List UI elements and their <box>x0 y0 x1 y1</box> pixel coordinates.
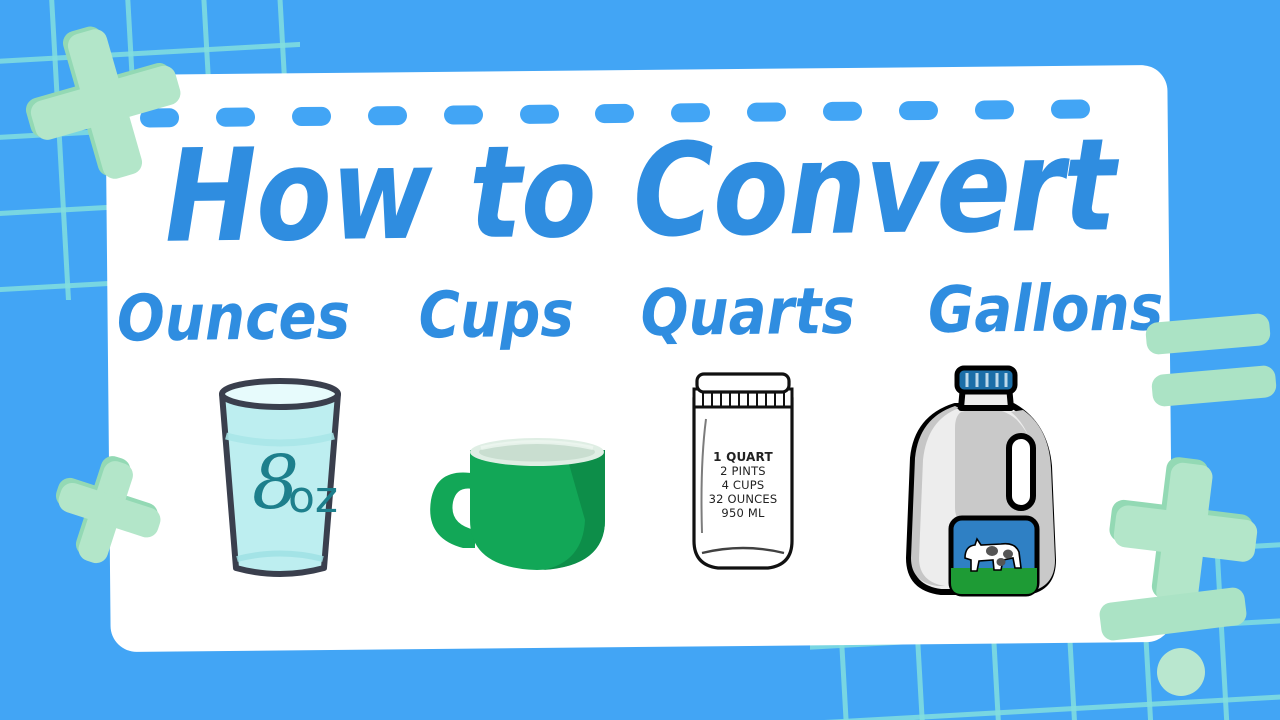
poster-canvas: How to Convert Ounces Cups Quarts Gallon… <box>0 0 1280 720</box>
equals-right-icon <box>1146 318 1276 414</box>
glass-marking-unit: oz <box>288 472 338 523</box>
page-title: How to Convert <box>89 121 1191 262</box>
circle-bottom-right-icon <box>1157 648 1205 696</box>
unit-label-ounces: Ounces <box>117 285 351 351</box>
unit-labels-row: Ounces Cups Quarts Gallons <box>0 275 1280 352</box>
drinking-glass-icon: 8 oz <box>200 378 360 583</box>
plus-top-right-icon <box>1102 450 1260 608</box>
mason-jar-icon <box>672 365 814 577</box>
unit-label-gallons: Gallons <box>927 277 1163 343</box>
unit-label-quarts: Quarts <box>641 280 856 346</box>
milk-gallon-jug-icon <box>893 362 1065 602</box>
coffee-mug-icon <box>415 438 615 583</box>
illustration-row: 8 oz <box>0 360 1280 605</box>
unit-label-cups: Cups <box>418 283 574 349</box>
